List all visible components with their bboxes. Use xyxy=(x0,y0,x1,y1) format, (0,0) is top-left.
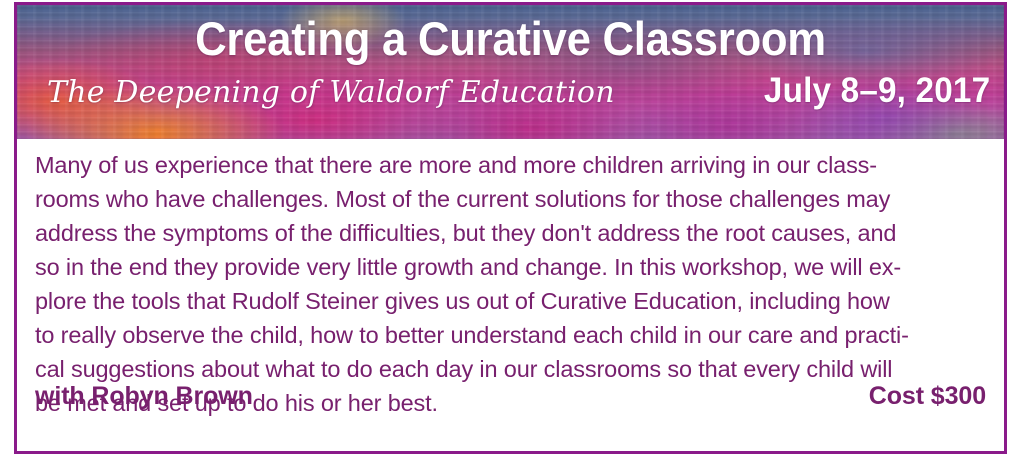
footer-row: with Robyn Brown Cost $300 xyxy=(35,382,986,411)
workshop-flyer: Creating a Curative Classroom The Deepen… xyxy=(14,2,1007,454)
banner-text-group: Creating a Curative Classroom The Deepen… xyxy=(17,5,1004,139)
workshop-description: Many of us experience that there are mor… xyxy=(35,148,990,420)
page-subtitle: The Deepening of Waldorf Education xyxy=(47,75,615,110)
body-area: Many of us experience that there are mor… xyxy=(17,139,1004,451)
page-title: Creating a Curative Classroom xyxy=(52,11,970,66)
event-date: July 8–9, 2017 xyxy=(764,71,990,111)
banner: Creating a Curative Classroom The Deepen… xyxy=(17,5,1004,139)
presenter-name: with Robyn Brown xyxy=(35,382,253,411)
cost-label: Cost $300 xyxy=(869,382,986,411)
